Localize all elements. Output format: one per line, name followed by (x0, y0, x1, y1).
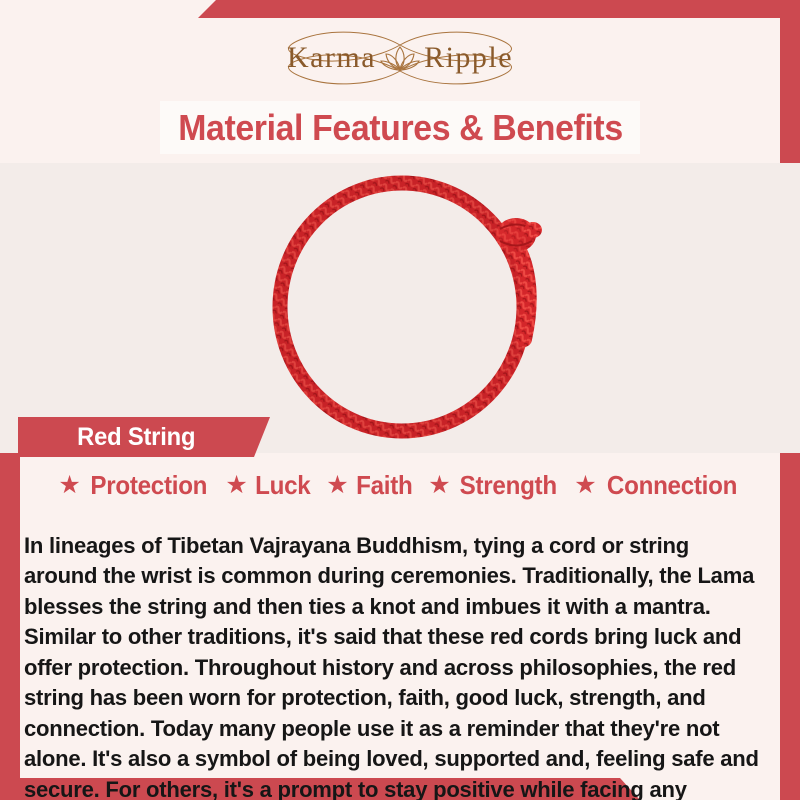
benefit-label: Connection (607, 470, 737, 501)
benefit-item-protection: ★ Protection (52, 470, 217, 501)
benefit-label: Protection (90, 470, 207, 501)
brand-name-right: Ripple (424, 43, 513, 73)
benefit-item-faith: ★ Faith (320, 470, 420, 501)
brand-logo-wrap: Karma Ripple (250, 27, 550, 89)
lotus-icon (380, 41, 420, 75)
star-icon: ★ (225, 473, 247, 498)
brand-logo-row: Karma Ripple (287, 41, 513, 75)
star-icon: ★ (574, 473, 596, 498)
benefit-item-connection: ★ Connection (568, 470, 747, 501)
benefits-list: ★ Protection ★ Luck ★ Faith ★ Strength ★… (20, 466, 780, 504)
star-icon: ★ (326, 473, 348, 498)
description-paragraph: In lineages of Tibetan Vajrayana Buddhis… (24, 531, 761, 800)
ribbon-label: Red String (77, 423, 195, 452)
benefit-label: Strength (459, 470, 556, 501)
headline-banner: Material Features & Benefits (160, 101, 640, 154)
star-icon: ★ (428, 473, 450, 498)
star-icon: ★ (58, 473, 80, 498)
brand-logo: Karma Ripple (0, 22, 800, 94)
page-title: Material Features & Benefits (178, 107, 623, 149)
product-image-panel (0, 163, 800, 453)
benefit-item-luck: ★ Luck (219, 470, 318, 501)
brand-name-left: Karma (287, 43, 376, 73)
benefit-item-strength: ★ Strength (422, 470, 566, 501)
red-string-bracelet-image (248, 173, 578, 441)
ribbon-red-string: Red String (18, 417, 270, 457)
frame-top-bar (0, 0, 800, 18)
infographic-canvas: Karma Ripple Material Features & Benefit… (0, 0, 800, 800)
benefit-label: Luck (255, 470, 310, 501)
benefit-label: Faith (356, 470, 412, 501)
bracelet-knot (496, 218, 542, 252)
